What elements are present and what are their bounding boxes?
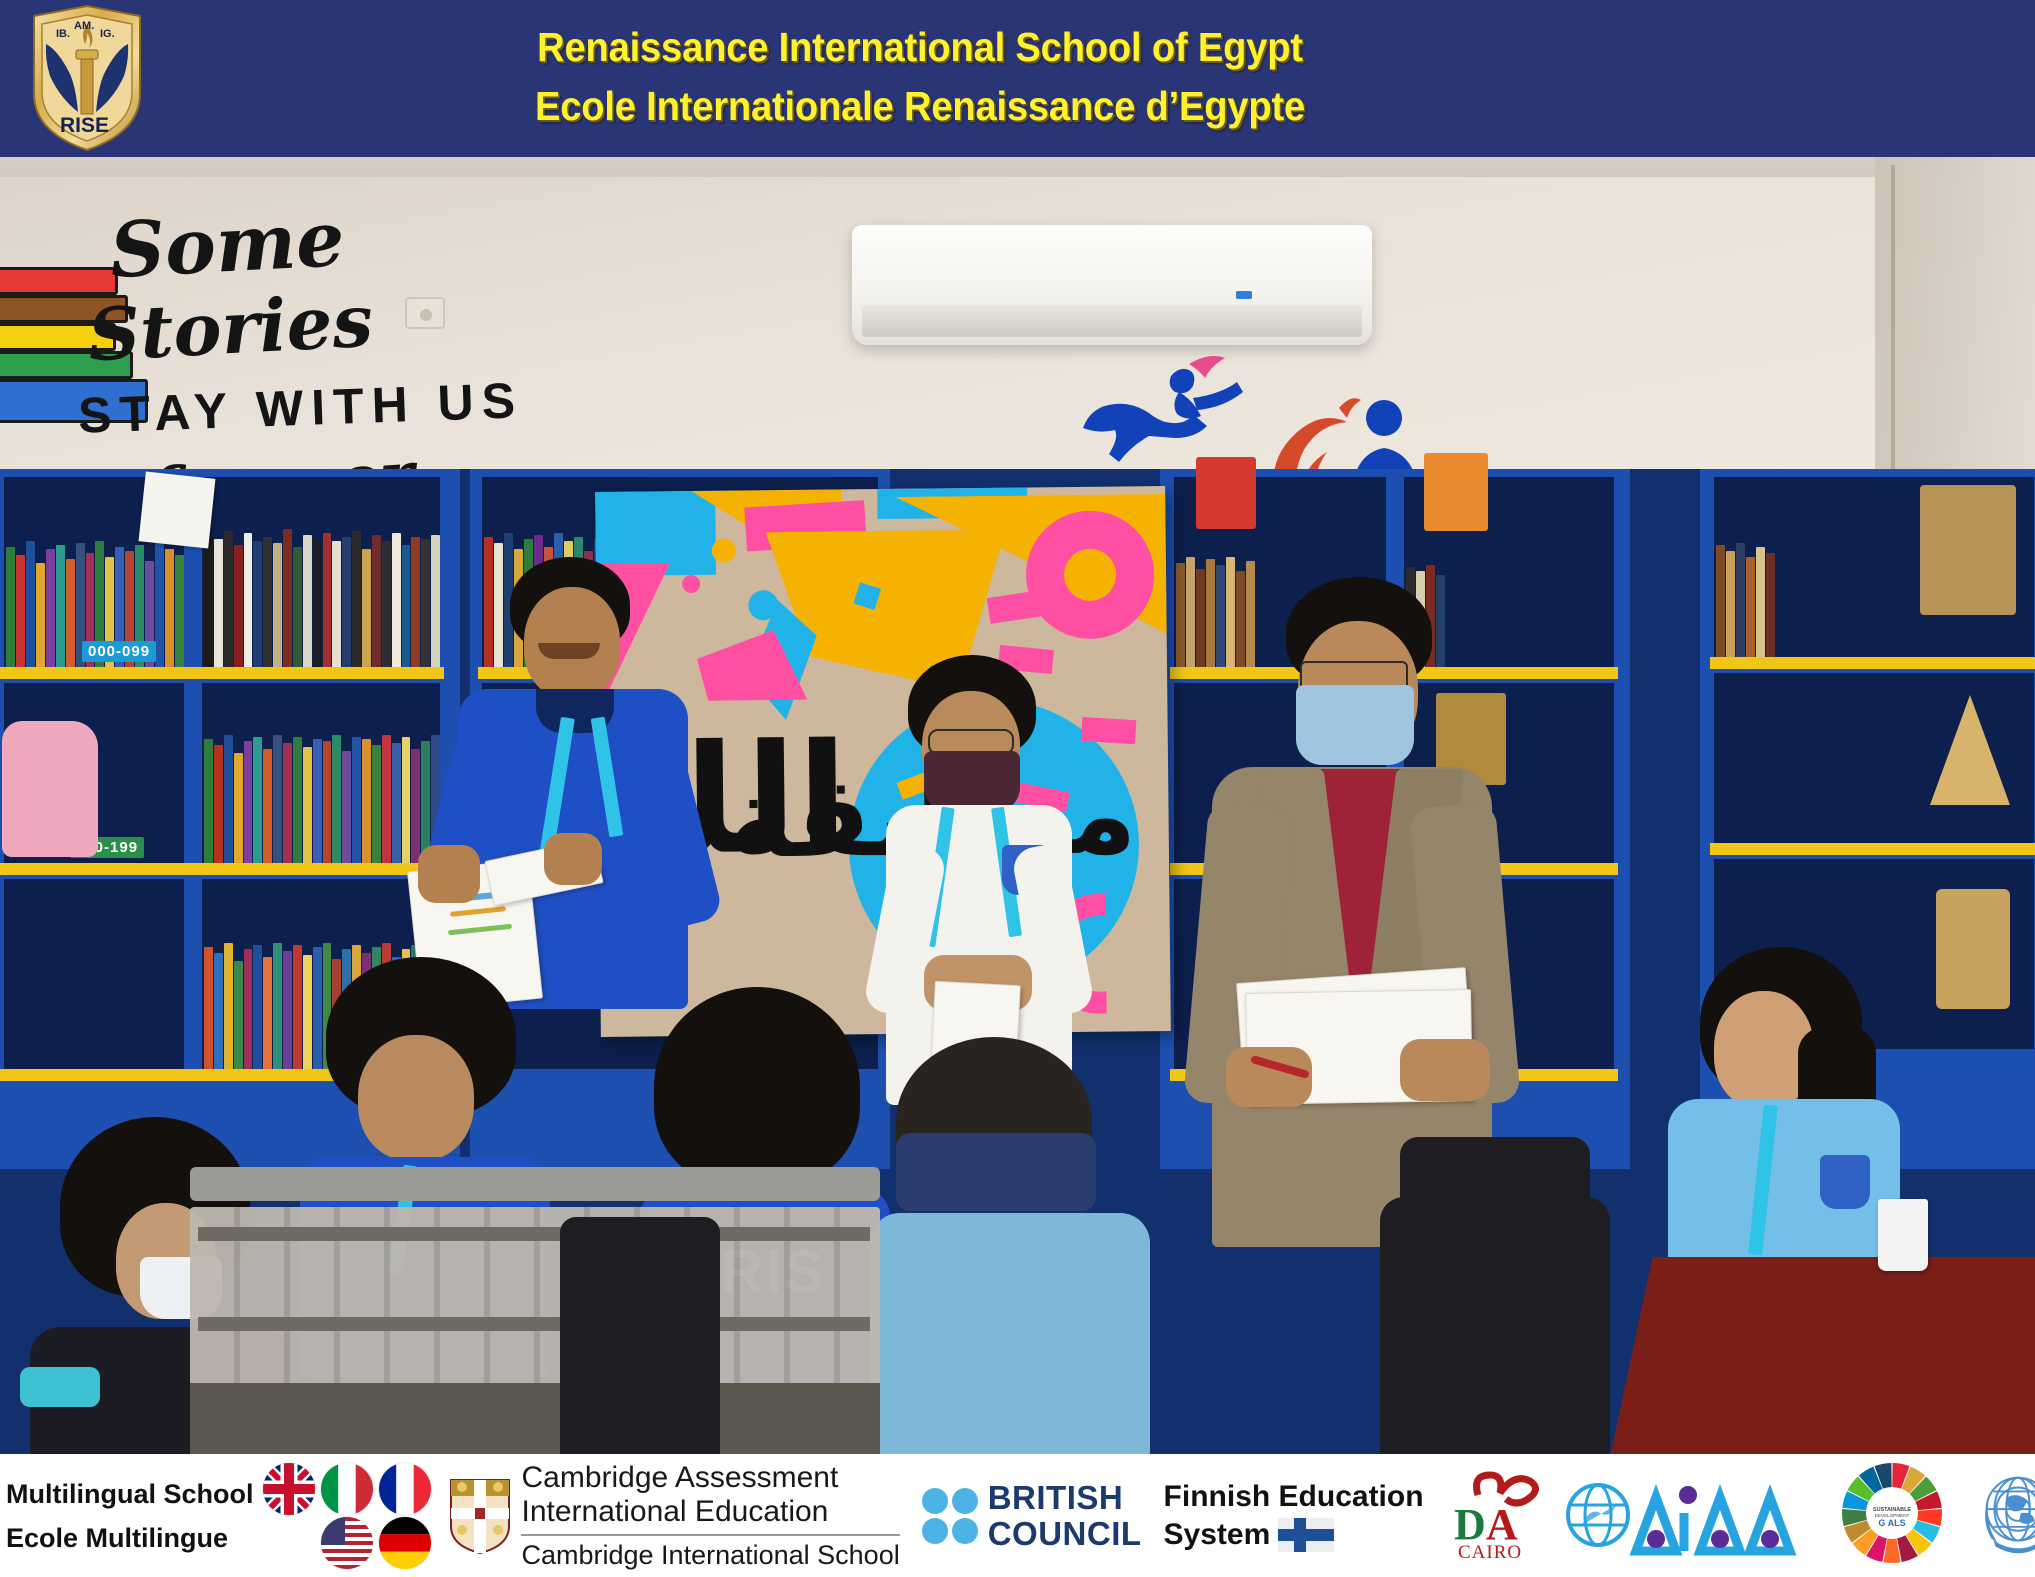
cambridge-line1: Cambridge Assessment	[521, 1461, 899, 1495]
posted-note	[139, 472, 216, 549]
cambridge-divider	[521, 1534, 899, 1536]
finnish-line1: Finnish Education	[1164, 1478, 1424, 1516]
wall-socket	[405, 297, 445, 329]
shelf-display-item	[1196, 457, 1256, 529]
shelf-display-item	[1424, 453, 1488, 531]
hand	[544, 833, 602, 885]
flag-italy-icon	[321, 1463, 373, 1515]
cambridge-line3: Cambridge International School	[521, 1540, 899, 1571]
school-crest-logo: IB. AM. IG. RISE	[26, 2, 148, 154]
mural-text-line1: Some	[108, 196, 347, 294]
multilingual-school-block: Multilingual School Ecole Multilingue	[6, 1454, 431, 1577]
office-chair-back	[1400, 1137, 1590, 1247]
un-emblem-icon	[1964, 1462, 2035, 1570]
mural-text-line2: Stories	[86, 278, 375, 379]
wristband	[20, 1367, 100, 1407]
finnish-line2: System	[1164, 1516, 1271, 1554]
surgical-mask	[1296, 685, 1414, 765]
smile	[538, 643, 600, 659]
british-council-line1: BRITISH	[988, 1480, 1142, 1516]
face-mask	[924, 751, 1020, 813]
dante-alighieri-cairo-logo: D A CAIRO	[1450, 1465, 1550, 1566]
cambridge-assessment-block: Cambridge Assessment International Educa…	[449, 1461, 899, 1571]
flag-france-icon	[379, 1463, 431, 1515]
british-council-block: BRITISH COUNCIL	[922, 1480, 1142, 1552]
paper-cup	[1878, 1199, 1928, 1271]
dewey-label-000: 000-099	[82, 641, 156, 662]
wooden-table	[1610, 1257, 2035, 1454]
wooden-bench	[190, 1167, 880, 1454]
air-conditioner	[852, 225, 1372, 345]
event-photograph: Some Stories STAY WITH US forever	[0, 157, 2035, 1454]
audience-adult	[870, 1037, 1150, 1454]
sdg-wheel-logo: SUSTAINABLE DEVELOPMENT G ALS	[1840, 1461, 1944, 1570]
svg-text:G ALS: G ALS	[1878, 1518, 1905, 1528]
svg-text:RISE: RISE	[60, 114, 109, 137]
svg-text:AM.: AM.	[74, 20, 94, 32]
multilingual-label-en: Multilingual School	[6, 1472, 253, 1516]
finnish-education-block: Finnish Education System	[1164, 1478, 1424, 1554]
cambridge-line2: International Education	[521, 1495, 899, 1529]
school-name-english: Renaissance International School of Egyp…	[399, 18, 1441, 77]
books-row	[204, 731, 440, 863]
side-wall	[1875, 157, 2035, 517]
school-badge	[1820, 1155, 1870, 1209]
flag-united-states-icon	[321, 1517, 373, 1569]
ac-vent	[862, 305, 1362, 337]
flag-finland-icon	[1278, 1518, 1334, 1552]
wall-corner	[1891, 165, 1895, 515]
shelf-display-item	[1936, 889, 2010, 1009]
language-flags	[263, 1463, 431, 1569]
flag-germany-icon	[379, 1517, 431, 1569]
flag-united-kingdom-icon	[263, 1463, 315, 1515]
header-title-block: Renaissance International School of Egyp…	[360, 18, 1480, 136]
cambridge-shield-icon	[449, 1478, 511, 1554]
chair	[560, 1217, 720, 1454]
british-council-dots-icon	[922, 1488, 978, 1544]
accreditation-footer: Multilingual School Ecole Multilingue	[0, 1454, 2035, 1577]
svg-text:IG.: IG.	[100, 28, 115, 40]
british-council-line2: COUNCIL	[988, 1516, 1142, 1552]
headscarf	[896, 1133, 1096, 1211]
svg-text:IB.: IB.	[56, 28, 70, 40]
model-united-nations-block: Model United Nations	[1964, 1462, 2035, 1570]
hand	[1226, 1047, 1312, 1107]
books-row	[204, 525, 440, 667]
school-name-french: Ecole Internationale Renaissance d’Egypt…	[399, 77, 1441, 136]
multilingual-label-fr: Ecole Multilingue	[6, 1516, 253, 1560]
hand	[418, 845, 480, 903]
shelf-display-item	[1920, 485, 2016, 615]
aiaa-logo	[1564, 1473, 1814, 1559]
pink-bag	[2, 721, 98, 857]
svg-text:CAIRO: CAIRO	[1458, 1542, 1522, 1561]
hand	[1400, 1039, 1490, 1101]
ac-indicator-light	[1236, 291, 1252, 299]
header-banner: IB. AM. IG. RISE Renaissance Internation…	[0, 0, 2035, 157]
